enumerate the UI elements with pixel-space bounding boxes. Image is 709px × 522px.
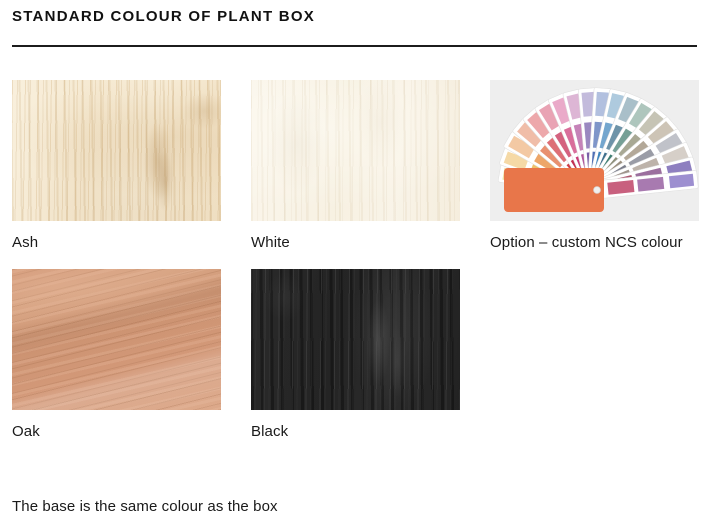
- title-divider: [12, 45, 697, 47]
- swatch-item-ncs[interactable]: Option – custom NCS colour: [490, 80, 699, 253]
- colour-fan-deck-icon: [490, 80, 699, 221]
- swatch-item-white[interactable]: White: [251, 80, 460, 253]
- swatch-image-black[interactable]: [251, 269, 460, 410]
- swatch-grid: Ash White: [12, 80, 697, 443]
- swatch-label-oak: Oak: [12, 421, 221, 442]
- swatch-item-black[interactable]: Black: [251, 269, 460, 442]
- swatch-image-oak[interactable]: [12, 269, 221, 410]
- swatch-label-ash: Ash: [12, 232, 221, 253]
- swatch-row-1: Ash White: [12, 80, 697, 253]
- swatch-image-white[interactable]: [251, 80, 460, 221]
- swatch-label-black: Black: [251, 421, 460, 442]
- swatch-label-ncs: Option – custom NCS colour: [490, 232, 699, 253]
- page-title: STANDARD COLOUR OF PLANT BOX: [12, 8, 315, 25]
- swatch-image-ncs[interactable]: [490, 80, 699, 221]
- swatch-row-2: Oak Black: [12, 269, 697, 442]
- swatch-item-empty: [490, 269, 699, 442]
- swatch-item-oak[interactable]: Oak: [12, 269, 221, 442]
- swatch-label-white: White: [251, 232, 460, 253]
- colour-options-page: STANDARD COLOUR OF PLANT BOX Ash White: [0, 0, 709, 522]
- base-colour-note: The base is the same colour as the box: [12, 498, 278, 515]
- swatch-item-ash[interactable]: Ash: [12, 80, 221, 253]
- swatch-image-ash[interactable]: [12, 80, 221, 221]
